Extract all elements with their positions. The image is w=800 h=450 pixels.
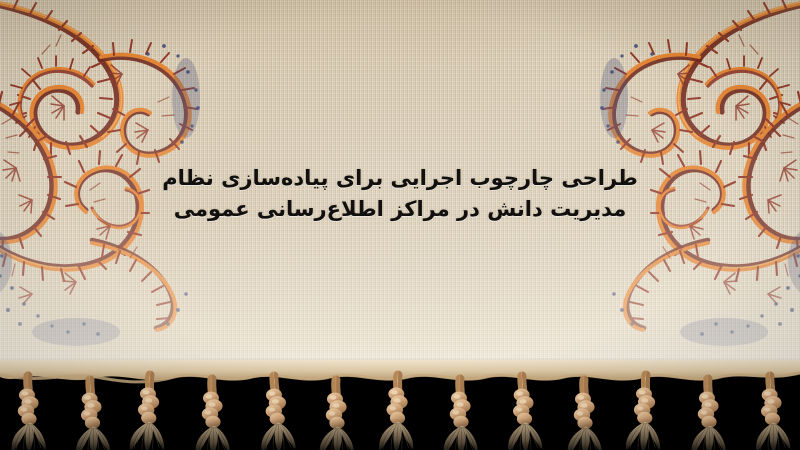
cover-canvas: طراحی چارچوب اجرایی برای پیاده‌سازی نظام…	[0, 0, 800, 450]
tassel-fringe	[0, 360, 800, 450]
title-line-2: مدیریت دانش در مراکز اطلاع‌رسانی عمومی	[0, 194, 800, 225]
cover-title: طراحی چارچوب اجرایی برای پیاده‌سازی نظام…	[0, 163, 800, 225]
title-line-1: طراحی چارچوب اجرایی برای پیاده‌سازی نظام	[0, 163, 800, 194]
